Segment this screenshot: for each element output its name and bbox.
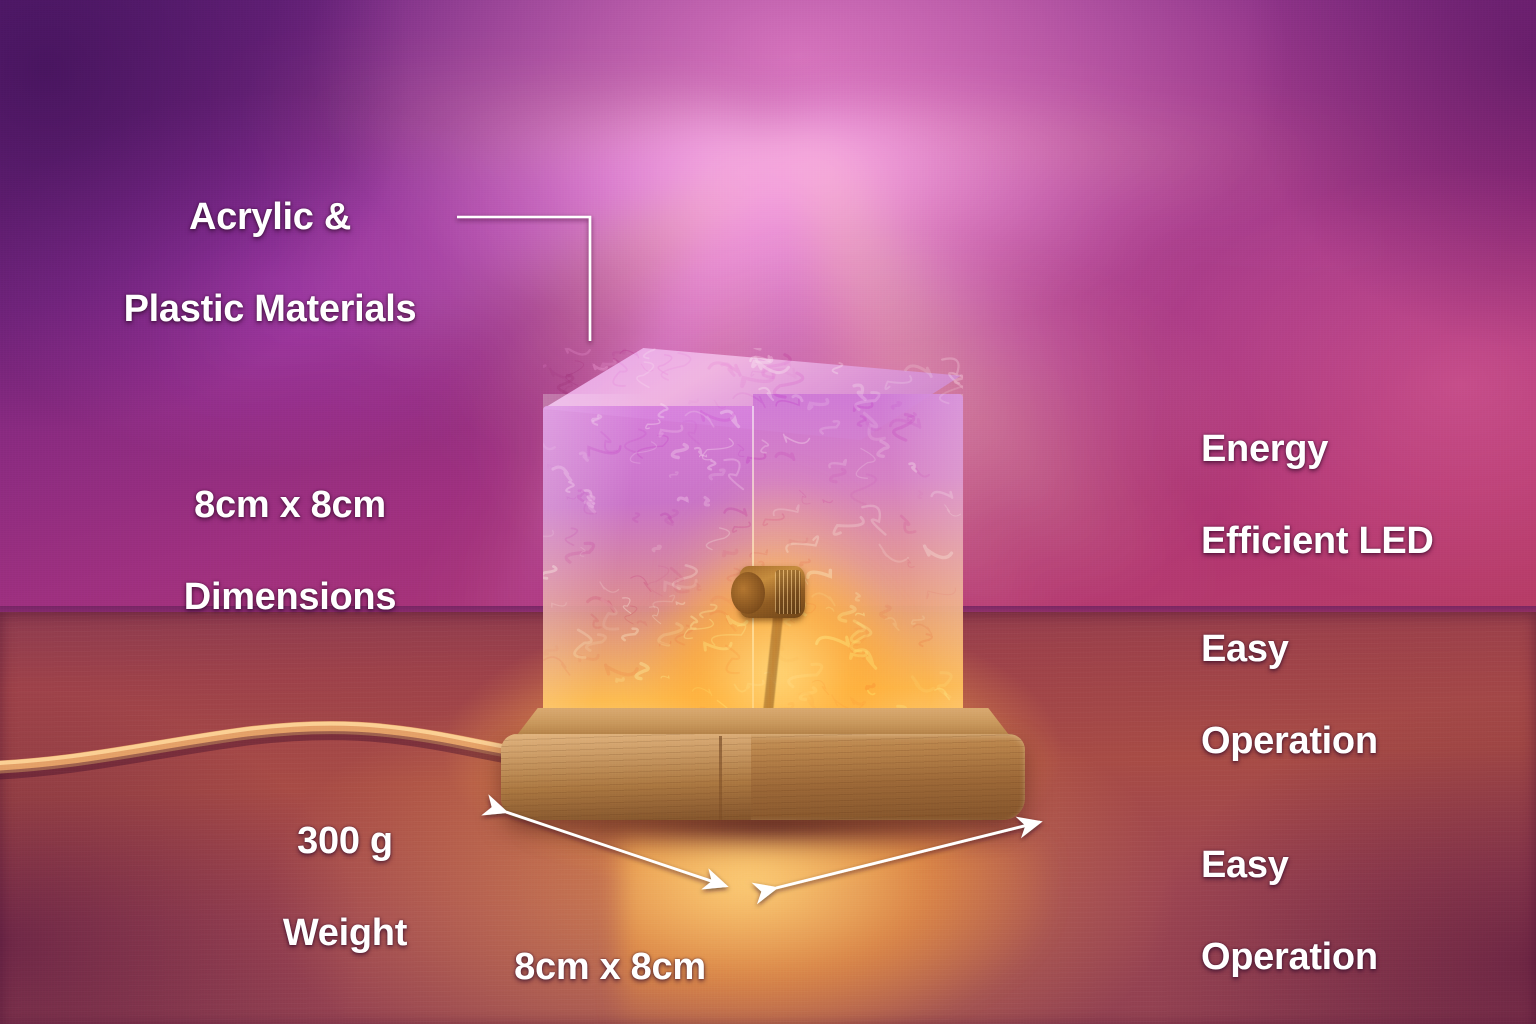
label-operation-top-line1: Easy — [1201, 626, 1531, 672]
label-material-line2: Plastic Materials — [60, 286, 480, 332]
label-operation-top: Easy Operation — [1201, 580, 1531, 810]
label-height-line1: 8cm x 8cm — [90, 482, 490, 528]
wave-stroke — [763, 355, 790, 378]
wave-stroke — [833, 363, 843, 373]
label-operation-bottom-line1: Easy — [1201, 842, 1531, 888]
label-operation-bottom-line2: Operation — [1201, 934, 1531, 980]
label-material-line1: Acrylic & — [60, 194, 480, 240]
label-led-line1: Energy — [1201, 426, 1531, 472]
label-operation-top-line2: Operation — [1201, 718, 1531, 764]
label-base-dimension-line1: 8cm x 8cm — [455, 944, 765, 990]
cube-lamp — [487, 336, 1039, 856]
wave-stroke — [722, 364, 734, 375]
wave-stroke — [644, 348, 655, 358]
wave-stroke — [906, 366, 932, 377]
label-material: Acrylic & Plastic Materials — [60, 148, 480, 378]
label-led-line2: Efficient LED — [1201, 518, 1531, 564]
knob-ridges — [775, 570, 801, 614]
wave-stroke — [637, 362, 654, 387]
base-corner-seam — [719, 736, 722, 820]
label-weight-line2: Weight — [195, 910, 495, 956]
wave-stroke — [564, 348, 590, 354]
wave-stroke — [543, 361, 545, 366]
base-drop-shadow — [517, 812, 1017, 866]
infographic-canvas: Acrylic & Plastic Materials 8cm x 8cm Di… — [0, 0, 1536, 1024]
base-wood-grain — [501, 734, 1025, 820]
wave-stroke — [885, 376, 911, 389]
label-led: Energy Efficient LED — [1201, 380, 1531, 610]
label-operation-bottom: Easy Operation — [1201, 796, 1531, 1024]
wave-stroke — [661, 353, 690, 380]
knob-cap — [731, 572, 765, 614]
label-height-dimension: 8cm x 8cm Dimensions — [90, 436, 490, 666]
label-weight: 300 g Weight — [195, 772, 495, 1002]
rotary-knob[interactable] — [731, 566, 807, 622]
wave-stroke — [753, 348, 771, 349]
label-height-line2: Dimensions — [90, 574, 490, 620]
wooden-base — [487, 708, 1039, 838]
label-weight-line1: 300 g — [195, 818, 495, 864]
wave-stroke — [602, 361, 615, 368]
acrylic-cube — [517, 348, 987, 748]
label-base-dimension: 8cm x 8cm Dimensions — [455, 898, 765, 1024]
